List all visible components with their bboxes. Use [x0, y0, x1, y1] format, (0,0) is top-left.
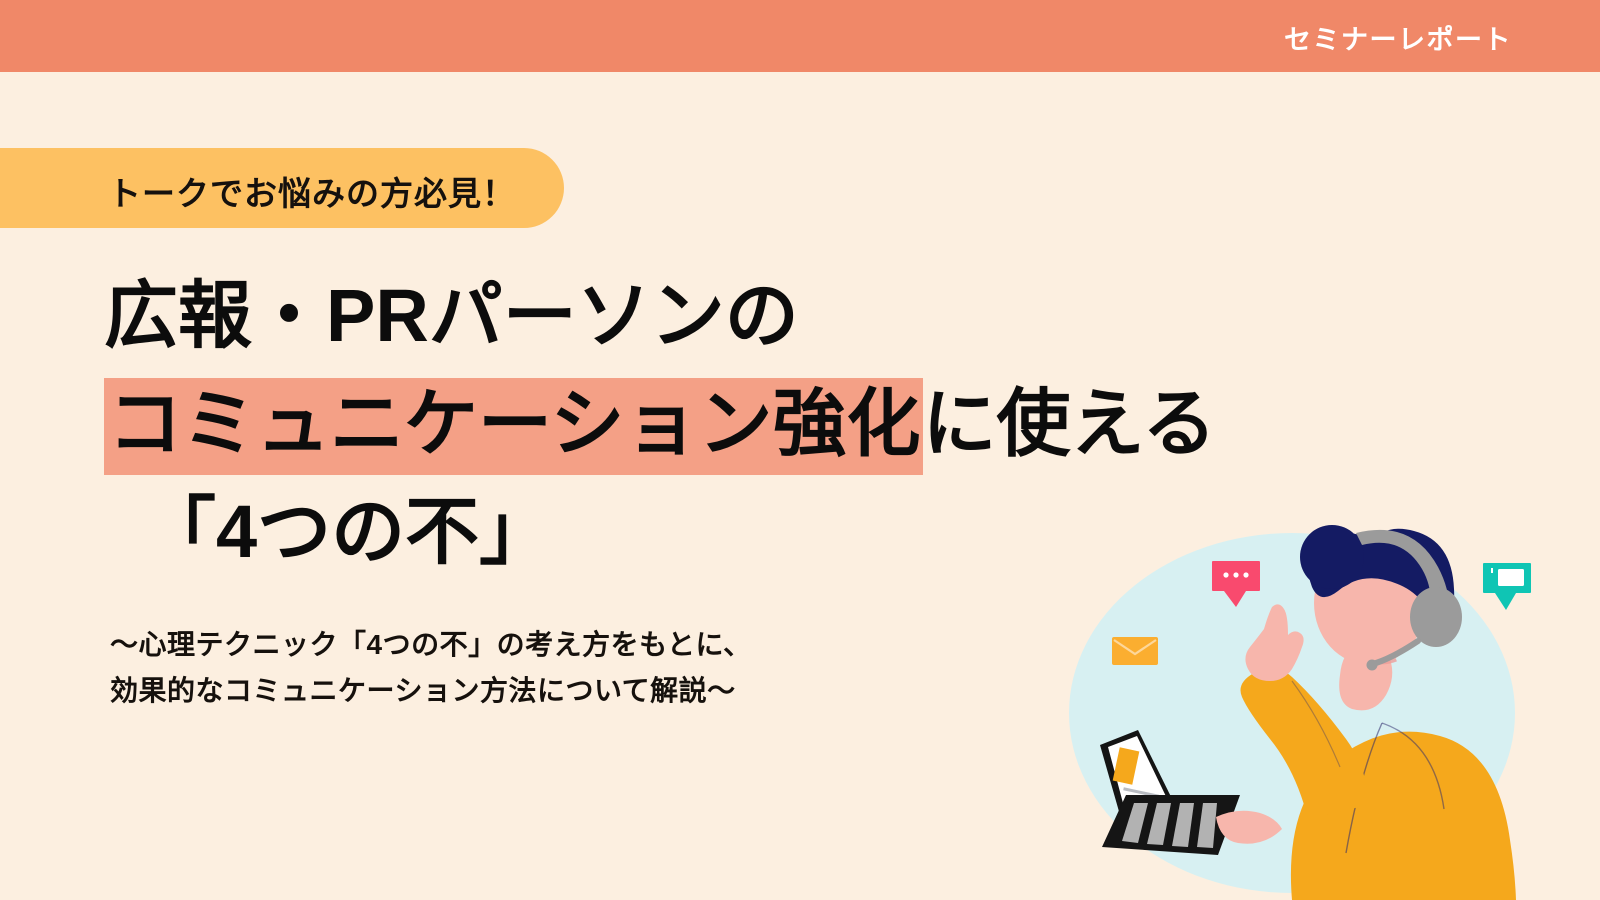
- hair-bun: [1300, 525, 1364, 589]
- headset-mic-tip: [1367, 660, 1378, 671]
- subtitle-block: 〜心理テクニック「4つの不」の考え方をもとに、 効果的なコミュニケーション方法に…: [110, 622, 830, 714]
- attention-badge-label: トークでお悩みの方必見！: [108, 167, 516, 215]
- headline-line-2-rest: に使える: [923, 382, 1217, 465]
- subtitle-line-2: 効果的なコミュニケーション方法について解説〜: [110, 668, 830, 714]
- chat-bubble-teal-icon: [1483, 563, 1531, 610]
- headline-line-1: 広報・PRパーソンの: [104, 262, 1364, 370]
- headline-line-2: コミュニケーション強化に使える: [104, 370, 1364, 478]
- envelope-icon: [1112, 637, 1158, 665]
- headset-earcup: [1410, 587, 1462, 647]
- hero-illustration: [1040, 495, 1600, 900]
- subtitle-line-1: 〜心理テクニック「4つの不」の考え方をもとに、: [110, 622, 830, 668]
- seminar-report-banner: セミナーレポート トークでお悩みの方必見！ 広報・PRパーソンの コミュニケーシ…: [0, 0, 1600, 900]
- report-category-label: セミナーレポート: [1284, 18, 1512, 57]
- headline-highlight-text: コミュニケーション強化: [104, 378, 923, 475]
